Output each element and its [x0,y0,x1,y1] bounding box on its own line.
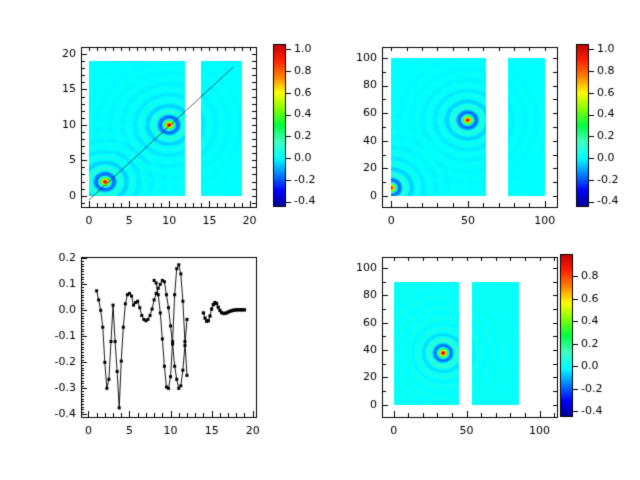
plot0-axes[interactable] [0,0,320,240]
plot2-axes[interactable] [0,240,320,480]
panel-plot2[interactable]: plot 2 [0,240,320,480]
figure-canvas: plot 1 plot 2 plot 3 [0,0,640,480]
panel-plot3[interactable]: plot 3 [320,240,640,480]
plot3-axes[interactable] [320,240,640,480]
plot1-axes[interactable] [320,0,640,240]
panel-plot1[interactable]: plot 1 [320,0,640,240]
panel-plot0[interactable] [0,0,320,240]
